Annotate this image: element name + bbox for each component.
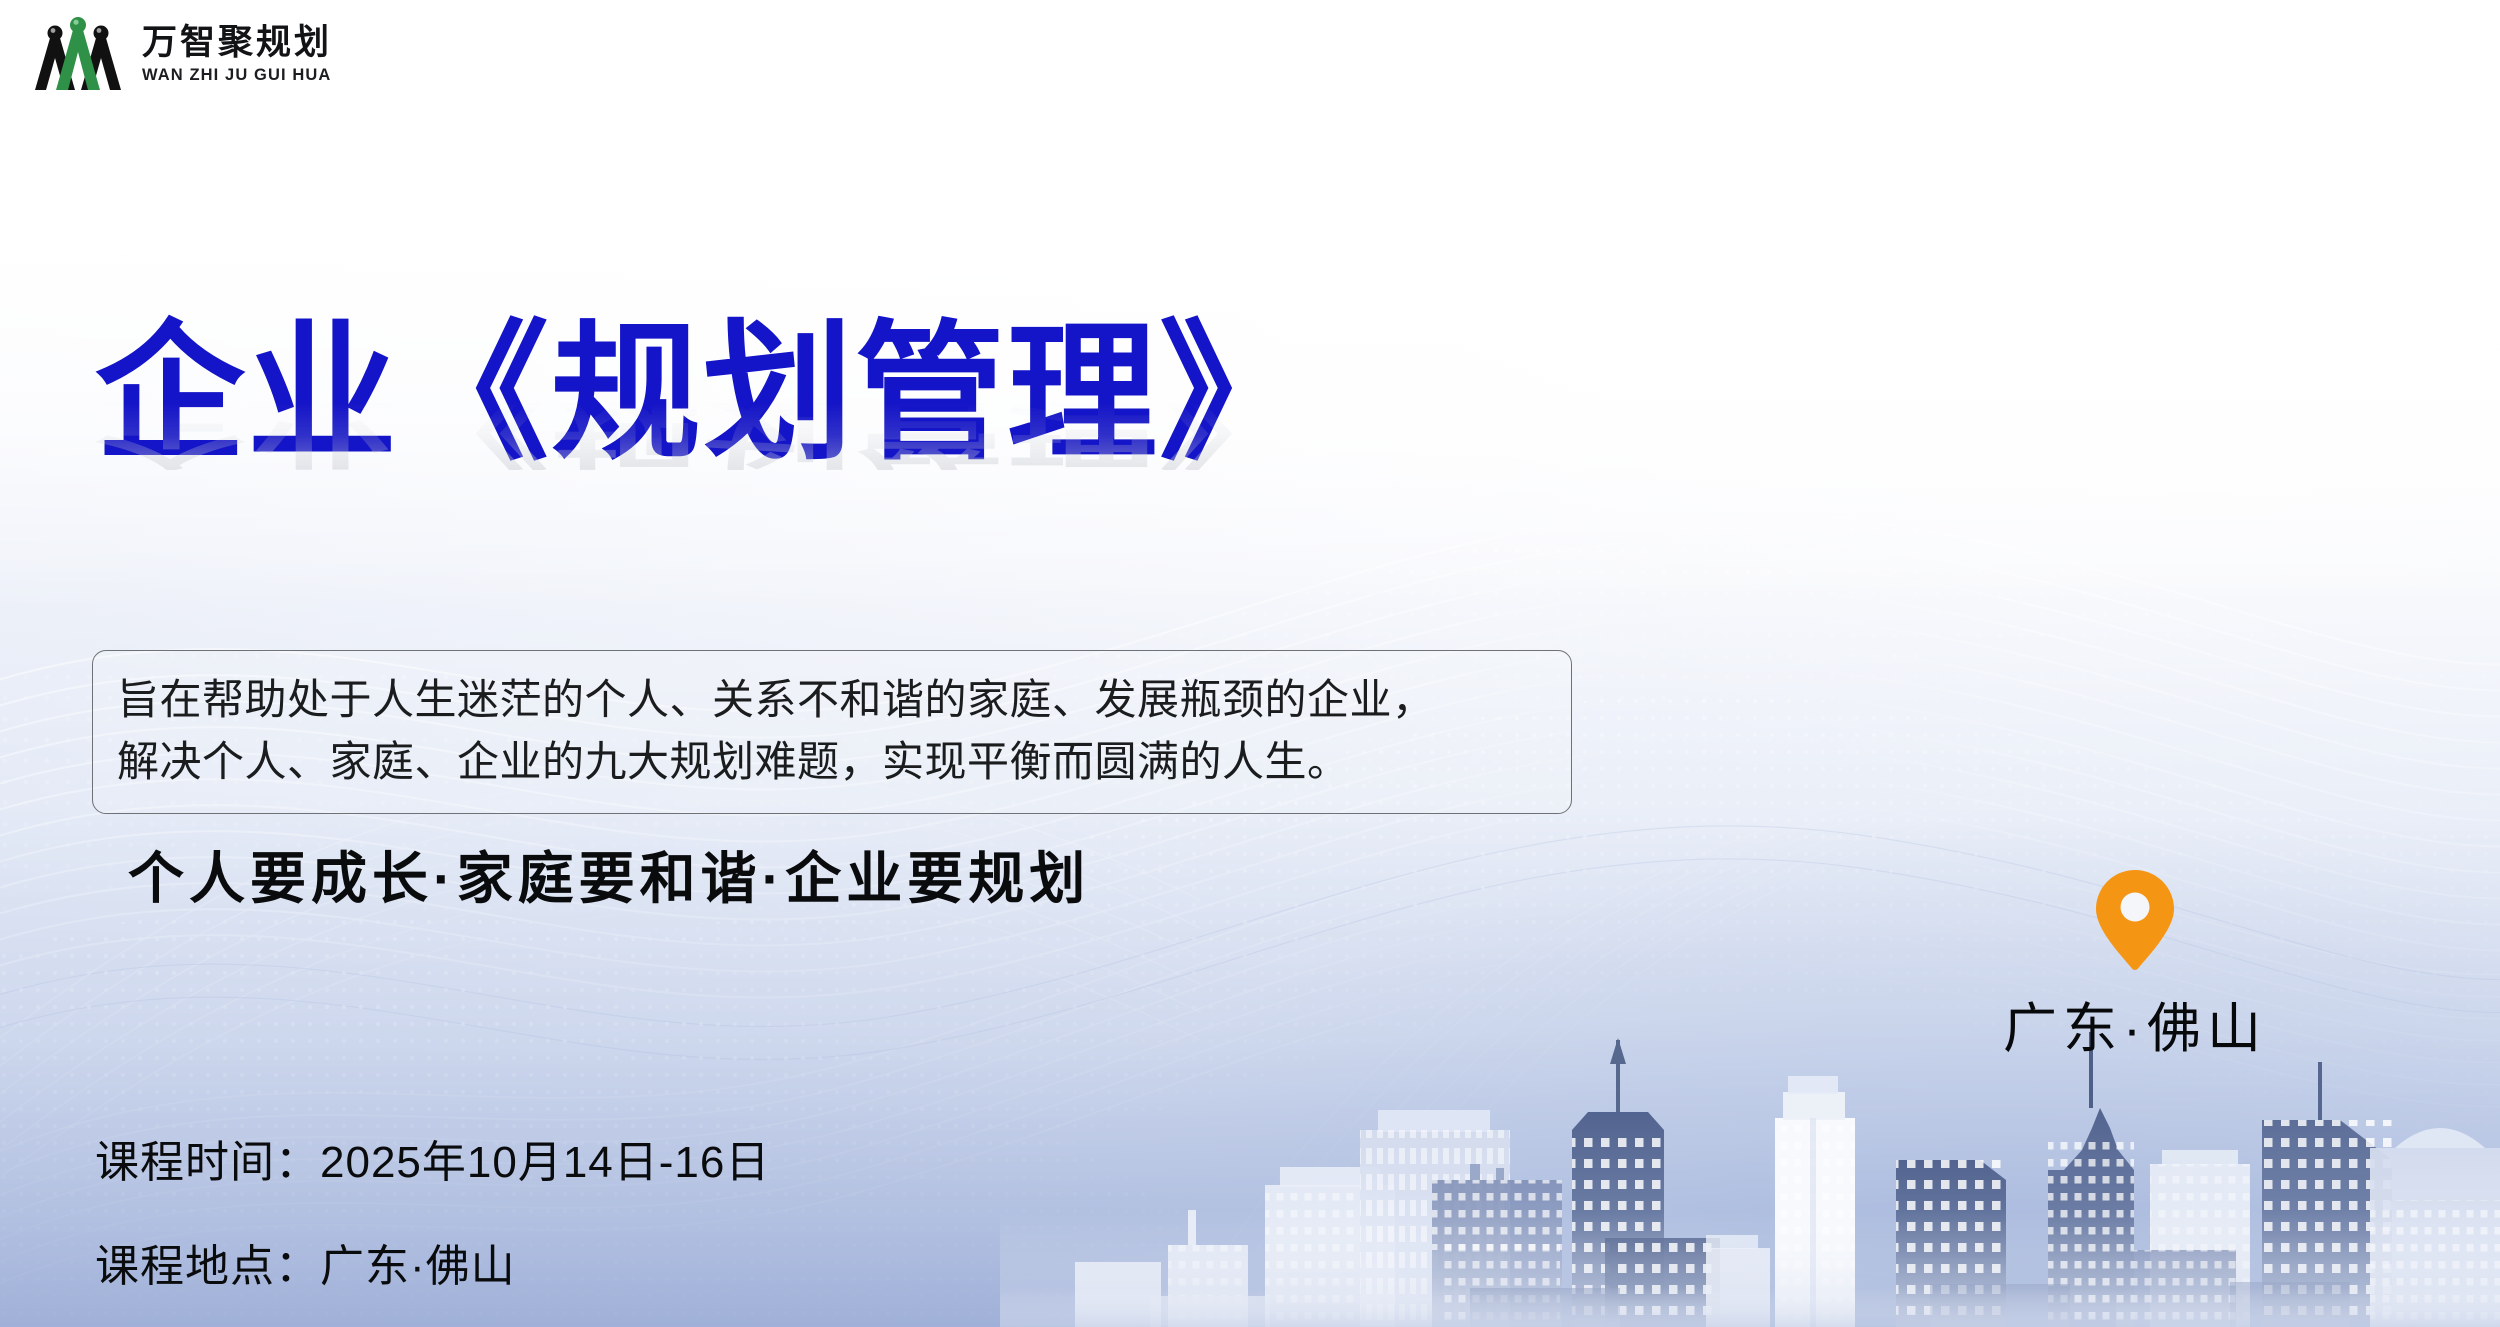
course-time: 课程时间：2025年10月14日-16日: [95, 1126, 770, 1190]
course-meta: 课程时间：2025年10月14日-16日 课程地点：广东·佛山: [95, 1126, 770, 1294]
hero-title-block: 企业《规划管理》 企业《规划管理》: [95, 318, 1311, 620]
map-pin-icon: [2094, 868, 2176, 972]
location-badge: 广东·佛山: [1955, 868, 2315, 1063]
description-box: 旨在帮助处于人生迷茫的个人、关系不和谐的家庭、发展瓶颈的企业， 解决个人、家庭、…: [92, 650, 1572, 814]
description-line-2: 解决个人、家庭、企业的九大规划难题，实现平衡而圆满的人生。: [117, 731, 1545, 793]
location-label: 广东·佛山: [1955, 984, 2315, 1063]
tagline: 个人要成长·家庭要和谐·企业要规划: [128, 834, 1090, 915]
course-place: 课程地点：广东·佛山: [95, 1230, 770, 1294]
brand-name-pinyin: WAN ZHI JU GUI HUA: [142, 67, 332, 84]
brand-wordmark: 万智聚规划 WAN ZHI JU GUI HUA: [142, 25, 332, 84]
description-line-1: 旨在帮助处于人生迷茫的个人、关系不和谐的家庭、发展瓶颈的企业，: [117, 669, 1545, 731]
brand-logo: 万智聚规划 WAN ZHI JU GUI HUA: [30, 16, 332, 92]
three-people-logo-icon: [30, 16, 126, 92]
page-title-reflection: 企业《规划管理》: [95, 392, 1311, 470]
promo-banner: 万智聚规划 WAN ZHI JU GUI HUA 企业《规划管理》 企业《规划管…: [0, 0, 2500, 1327]
brand-name-cn: 万智聚规划: [142, 25, 332, 60]
